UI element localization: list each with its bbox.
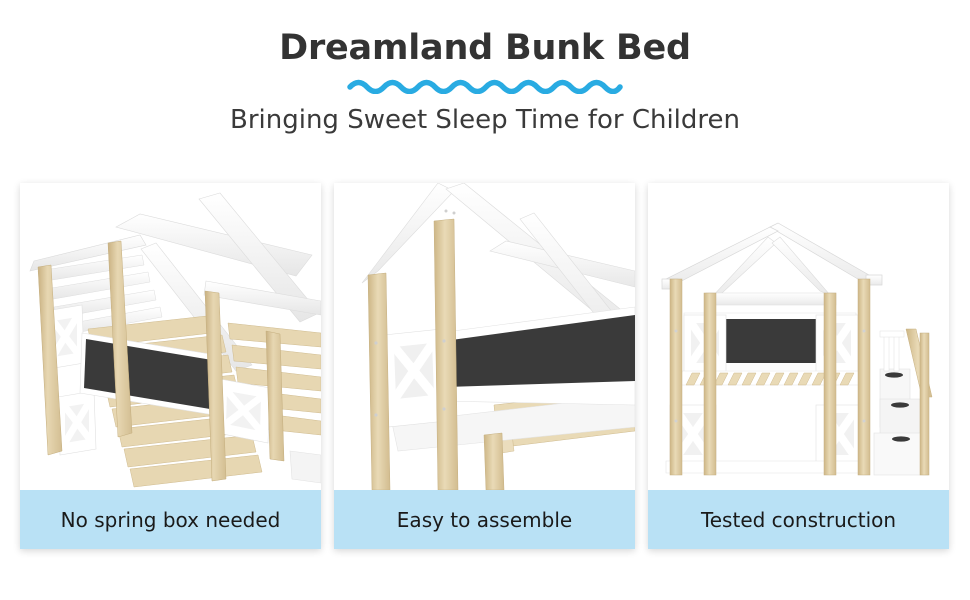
page-title: Dreamland Bunk Bed — [0, 28, 970, 68]
wavy-line-divider-icon — [0, 76, 970, 94]
page-subtitle: Bringing Sweet Sleep Time for Children — [0, 105, 970, 135]
product-image-2 — [334, 183, 635, 490]
feature-panel-1[interactable]: No spring box needed — [20, 183, 321, 549]
panel-caption-2: Easy to assemble — [334, 490, 635, 549]
product-feature-banner: Dreamland Bunk Bed Bringing Sweet Sleep … — [0, 0, 970, 600]
feature-panel-2[interactable]: Easy to assemble — [334, 183, 635, 549]
panel-caption-1: No spring box needed — [20, 490, 321, 549]
panel-caption-3: Tested construction — [648, 490, 949, 549]
product-image-1 — [20, 183, 321, 490]
product-image-3 — [648, 183, 949, 490]
feature-panel-list: No spring box needed — [20, 183, 950, 549]
feature-panel-3[interactable]: Tested construction — [648, 183, 949, 549]
banner-header: Dreamland Bunk Bed Bringing Sweet Sleep … — [0, 0, 970, 170]
